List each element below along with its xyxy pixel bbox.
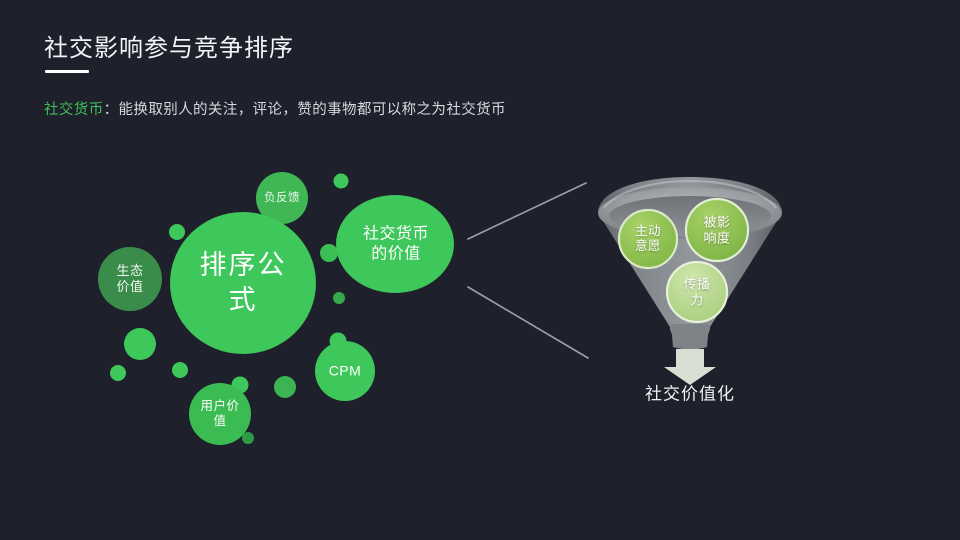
bubble-user-value[interactable] xyxy=(189,383,251,445)
bubble-social-currency-value[interactable] xyxy=(336,195,454,293)
bubble-cpm[interactable] xyxy=(315,341,375,401)
connector-lines xyxy=(468,183,588,358)
bubble-main-formula[interactable] xyxy=(170,212,316,354)
funnel-caption: 社交价值化 xyxy=(645,380,735,405)
bubble-eco[interactable] xyxy=(98,247,162,311)
diagram-stage: 排序公 式 社交货币 的价值 生态 价值 负反馈 CPM 用户价 值 主动 意愿… xyxy=(0,0,960,540)
funnel-graphic xyxy=(598,177,782,385)
slide-root: 社交影响参与竞争排序 社交货币：能换取别人的关注，评论，赞的事物都可以称之为社交… xyxy=(0,0,960,540)
diagram-svg xyxy=(0,0,960,540)
